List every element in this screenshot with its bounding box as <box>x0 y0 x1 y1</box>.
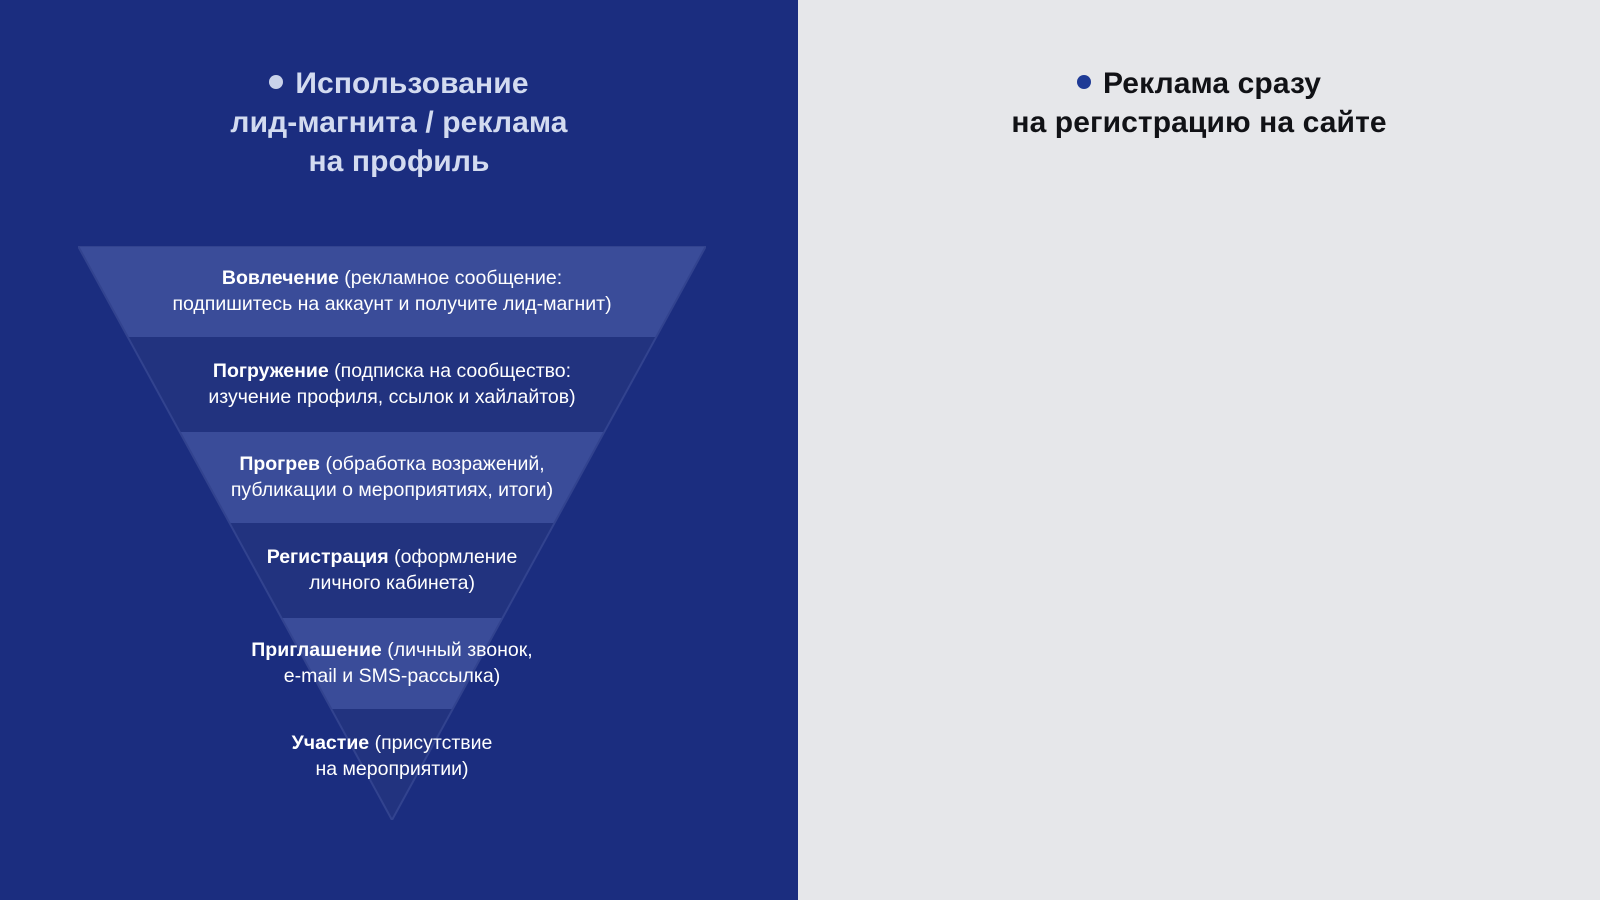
stage-label: Прогрев (обработка возражений, публикаци… <box>231 452 553 504</box>
stage-label: Регистрация (оформление личного кабинета… <box>267 545 518 597</box>
stage-label: Участие (присутствие на мероприятии) <box>292 731 493 783</box>
bullet-dot-icon <box>1077 75 1091 89</box>
funnel-stage-left-4: Регистрация (оформление личного кабинета… <box>78 523 706 618</box>
panel-left: Использование лид-магнита / реклама на п… <box>0 0 798 900</box>
funnel-stages-left: Вовлечение (рекламное сообщение: подпиши… <box>78 246 706 820</box>
funnel-stage-left-6: Участие (присутствие на мероприятии) <box>78 709 706 804</box>
page-title-left: Использование лид-магнита / реклама на п… <box>0 64 798 181</box>
funnel-stage-left-2: Погружение (подписка на сообщество: изуч… <box>78 337 706 432</box>
stage-label: Приглашение (личный звонок, e-mail и SMS… <box>251 638 532 690</box>
stage-label: Погружение (подписка на сообщество: изуч… <box>208 359 575 411</box>
funnel-stage-left-3: Прогрев (обработка возражений, публикаци… <box>78 432 706 523</box>
stage-label: Вовлечение (рекламное сообщение: подпиши… <box>172 266 611 318</box>
funnel-stage-left-1: Вовлечение (рекламное сообщение: подпиши… <box>78 246 706 337</box>
title-text-right: Реклама сразу на регистрацию на сайте <box>1011 67 1386 139</box>
panel-right: Реклама сразу на регистрацию на сайте Зн <box>798 0 1600 900</box>
funnel-left: Вовлечение (рекламное сообщение: подпиши… <box>78 246 706 820</box>
funnel-stage-left-5: Приглашение (личный звонок, e-mail и SMS… <box>78 618 706 709</box>
infographic-root: Использование лид-магнита / реклама на п… <box>0 0 1600 900</box>
bullet-dot-icon <box>269 75 283 89</box>
page-title-right: Реклама сразу на регистрацию на сайте <box>798 64 1600 142</box>
